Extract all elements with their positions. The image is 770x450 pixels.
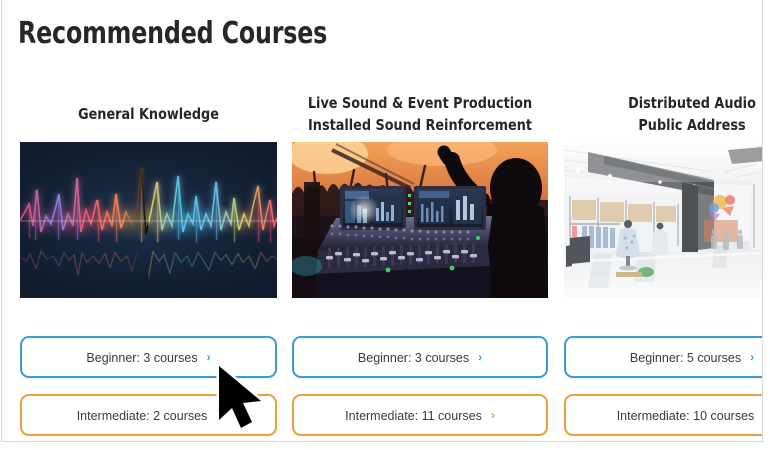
column-heading: General Knowledge [30, 86, 266, 142]
mall-interior-illustration [564, 142, 763, 298]
intermediate-courses-button[interactable]: Intermediate: 10 courses› [564, 394, 763, 436]
beginner-courses-button[interactable]: Beginner: 5 courses› [564, 336, 763, 378]
column-heading-line1: Live Sound & Event Production [302, 92, 538, 114]
course-category-column-distributed-audio: Distributed Audio Public Address [564, 86, 763, 436]
page-root: Recommended Courses General Knowledge [0, 0, 770, 450]
chevron-right-icon: › [216, 396, 220, 434]
beginner-courses-label: Beginner: 3 courses [86, 351, 197, 365]
intermediate-courses-button[interactable]: Intermediate: 2 courses› [20, 394, 277, 436]
intermediate-courses-label: Intermediate: 10 courses [617, 409, 755, 423]
chevron-right-icon: › [491, 396, 495, 434]
course-category-column-live-sound: Live Sound & Event Production Installed … [292, 86, 548, 436]
intermediate-courses-button[interactable]: Intermediate: 11 courses› [292, 394, 548, 436]
intermediate-courses-label: Intermediate: 11 courses [345, 409, 482, 423]
column-heading: Live Sound & Event Production Installed … [302, 86, 538, 142]
mixing-console-illustration [292, 142, 548, 298]
course-thumbnail-live-sound[interactable] [292, 142, 548, 298]
beginner-courses-label: Beginner: 3 courses [358, 351, 469, 365]
beginner-courses-label: Beginner: 5 courses [630, 351, 741, 365]
intermediate-courses-label: Intermediate: 2 courses [77, 409, 208, 423]
level-button-group: Beginner: 3 courses› Intermediate: 2 cou… [20, 336, 277, 436]
page-frame: Recommended Courses General Knowledge [1, 0, 763, 442]
level-button-group: Beginner: 5 courses› Intermediate: 10 co… [564, 336, 763, 436]
column-heading-line2: Public Address [574, 114, 763, 136]
audio-waveform-icon [20, 142, 277, 298]
course-thumbnail-distributed-audio[interactable] [564, 142, 763, 298]
beginner-courses-button[interactable]: Beginner: 3 courses› [20, 336, 277, 378]
page-title: Recommended Courses [18, 16, 327, 51]
chevron-right-icon: › [207, 338, 211, 376]
column-heading: Distributed Audio Public Address [574, 86, 763, 142]
column-heading-line1: Distributed Audio [574, 92, 763, 114]
chevron-right-icon: › [478, 338, 482, 376]
column-heading-line2: Installed Sound Reinforcement [302, 114, 538, 136]
column-heading-line1: General Knowledge [30, 103, 266, 125]
chevron-right-icon: › [750, 338, 754, 376]
course-category-column-general-knowledge: General Knowledge [20, 86, 277, 436]
level-button-group: Beginner: 3 courses› Intermediate: 11 co… [292, 336, 548, 436]
beginner-courses-button[interactable]: Beginner: 3 courses› [292, 336, 548, 378]
course-thumbnail-general-knowledge[interactable] [20, 142, 277, 298]
